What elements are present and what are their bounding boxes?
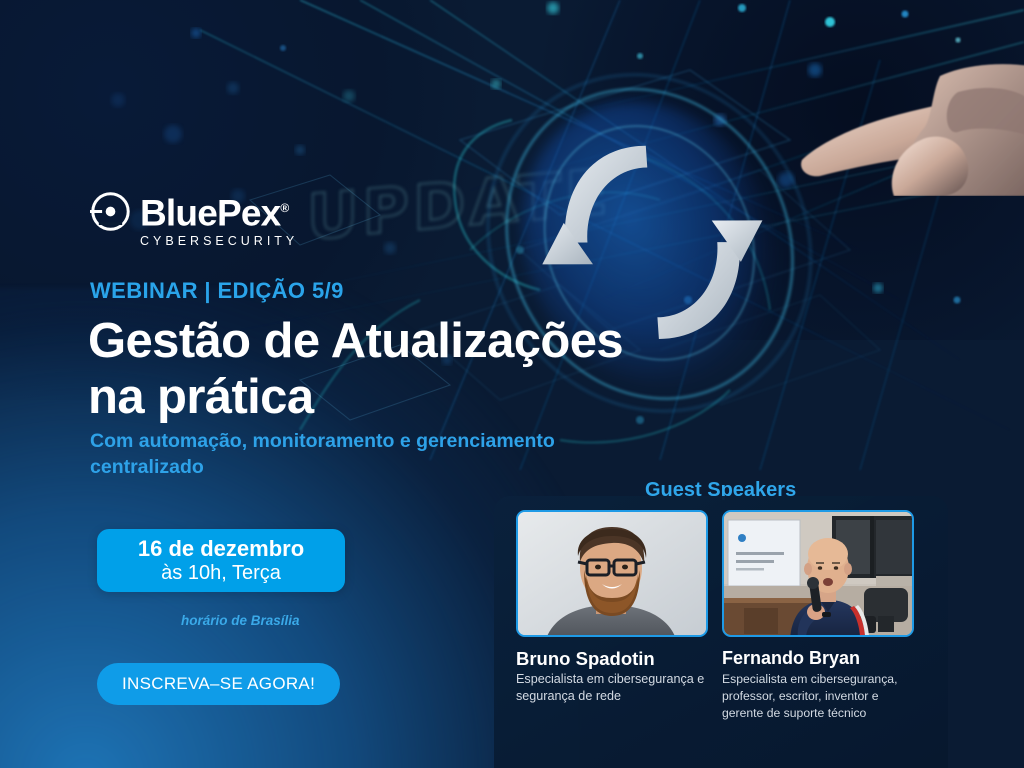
- register-button[interactable]: INSCREVA–SE AGORA!: [97, 663, 340, 705]
- webinar-edition-label: WEBINAR | EDIÇÃO 5/9: [90, 278, 344, 304]
- brand-registered-mark: ®: [280, 201, 288, 215]
- speaker-name: Bruno Spadotin: [516, 648, 708, 669]
- brand-text-block: BluePex® CYBERSECURITY: [140, 188, 298, 248]
- brand-tagline: CYBERSECURITY: [140, 234, 298, 248]
- avatar: [516, 510, 708, 637]
- list-item: Bruno Spadotin Especialista em cibersegu…: [516, 510, 708, 722]
- speaker-role: Especialista em cibersegurança e seguran…: [516, 671, 708, 705]
- brand-logo: BluePex® CYBERSECURITY: [90, 188, 298, 248]
- event-date-badge: 16 de dezembro às 10h, Terça: [97, 529, 345, 592]
- speaker-role: Especialista em cibersegurança, professo…: [722, 671, 914, 722]
- brand-name: BluePex®: [140, 188, 288, 233]
- speakers-panel: Bruno Spadotin Especialista em cibersegu…: [494, 496, 948, 768]
- speaker-name: Fernando Bryan: [722, 648, 914, 669]
- page-title: Gestão de Atualizações na prática: [88, 313, 708, 425]
- pointing-hand-graphic: [790, 0, 1024, 196]
- avatar: [722, 510, 914, 637]
- headline-line-1: Gestão de Atualizações: [88, 314, 623, 368]
- target-circle-icon: [90, 191, 131, 232]
- list-item: Fernando Bryan Especialista em cibersegu…: [722, 510, 914, 722]
- page-subtitle: Com automação, monitoramento e gerenciam…: [90, 428, 650, 480]
- speakers-list: Bruno Spadotin Especialista em cibersegu…: [494, 496, 948, 722]
- event-time: às 10h, Terça: [161, 561, 281, 585]
- timezone-note: horário de Brasília: [181, 613, 300, 628]
- headline-line-2: na prática: [88, 370, 313, 424]
- brand-name-label: BluePex: [140, 192, 280, 233]
- bearded-man-with-glasses-portrait: [518, 512, 708, 637]
- webinar-poster: UPDATE: [0, 0, 1024, 768]
- event-date: 16 de dezembro: [138, 536, 304, 561]
- bald-man-with-microphone-presenting: [724, 512, 914, 637]
